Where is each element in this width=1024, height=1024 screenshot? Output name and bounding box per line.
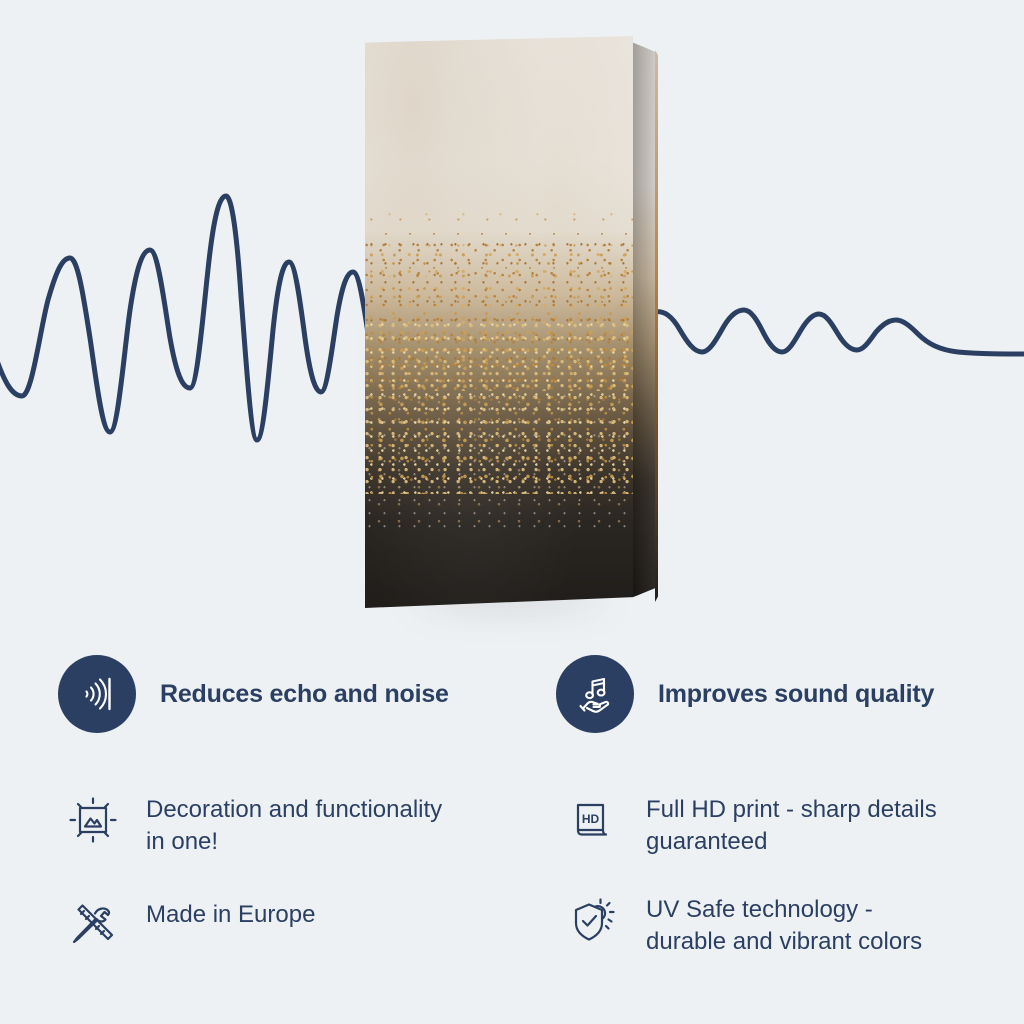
feature-row-decoration: Decoration and functionality in one! [62,790,442,858]
list-label-line1: UV Safe technology - [646,894,922,926]
badge-circle [556,655,634,733]
list-label: Full HD print - sharp details guaranteed [646,790,937,858]
hd-print-icon: HD [565,793,621,849]
list-icon-wrap [562,890,624,952]
feature-badge-reduces-echo: Reduces echo and noise [58,655,449,733]
list-label-line1: Made in Europe [146,899,315,931]
ruler-and-hammer-icon [65,898,121,954]
list-label-line2: guaranteed [646,826,937,858]
list-label-line1: Decoration and functionality [146,794,442,826]
sound-wave-path-right [654,310,1024,354]
list-label: Made in Europe [146,895,315,931]
canvas-side-shading [633,36,657,608]
list-icon-wrap [62,895,124,957]
badge-label: Reduces echo and noise [160,679,449,709]
feature-row-hd-print: HD Full HD print - sharp details guarant… [562,790,937,858]
canvas-edge-highlight [655,50,658,602]
badge-label: Improves sound quality [658,679,934,709]
list-icon-wrap: HD [562,790,624,852]
list-label-line2: in one! [146,826,442,858]
product-canvas-image [355,28,665,636]
feature-row-made-in-europe: Made in Europe [62,895,315,957]
feature-row-uv-safe: UV Safe technology - durable and vibrant… [562,890,922,958]
list-label-line2: durable and vibrant colors [646,926,922,958]
list-label: Decoration and functionality in one! [146,790,442,858]
uv-shield-check-icon [565,893,621,949]
canvas-front-face [365,36,633,608]
svg-text:HD: HD [582,812,600,826]
music-note-in-hand-icon [572,671,618,717]
list-label-line1: Full HD print - sharp details [646,794,937,826]
badge-circle [58,655,136,733]
list-icon-wrap [62,790,124,852]
list-label: UV Safe technology - durable and vibrant… [646,890,922,958]
gold-speckles-lower [365,391,633,528]
framed-picture-shining-icon [65,793,121,849]
sound-absorption-icon [74,671,120,717]
canvas-side-depth [633,36,657,608]
feature-badge-sound-quality: Improves sound quality [556,655,934,733]
